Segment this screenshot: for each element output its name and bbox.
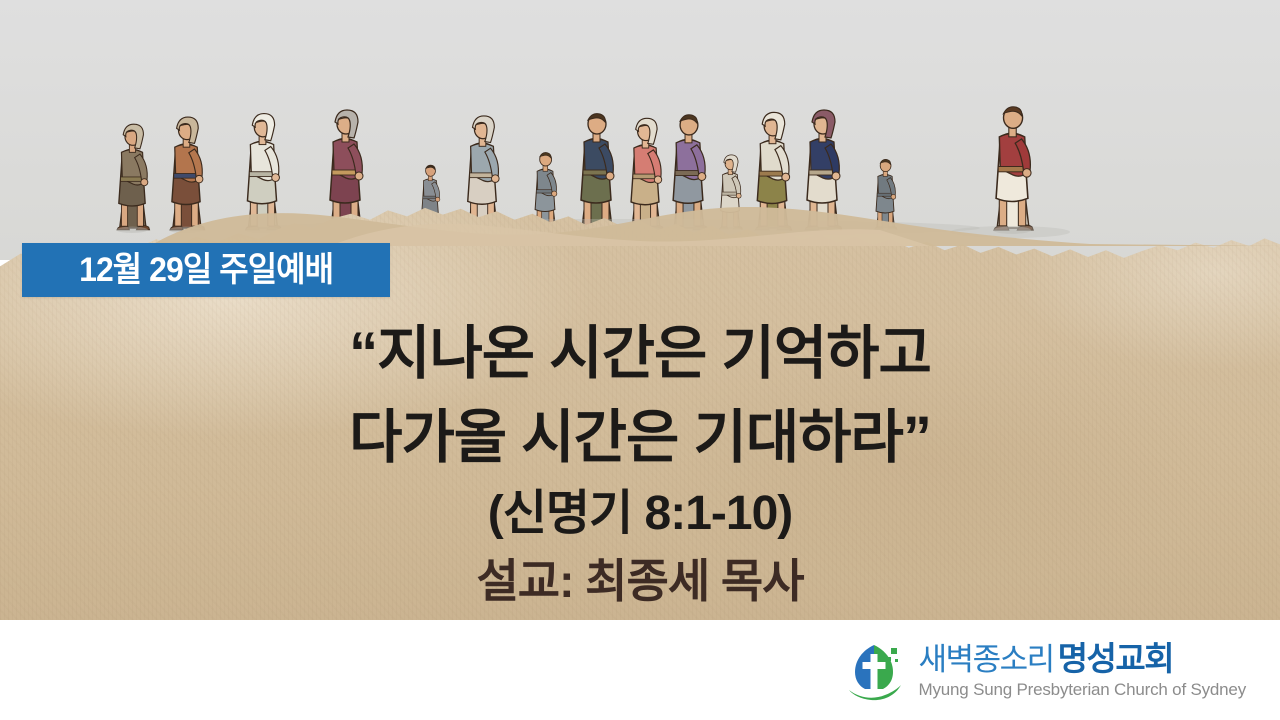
sermon-preacher: 설교: 최종세 목사 [0, 548, 1280, 614]
church-name-korean-light: 새벽종소리 [919, 644, 1054, 675]
church-name-english: Myung Sung Presbyterian Church of Sydney [919, 681, 1246, 698]
church-logo-text: 새벽종소리 명성교회 Myung Sung Presbyterian Churc… [919, 642, 1246, 698]
sermon-title-line-2: 다가올 시간은 기대하라” [0, 396, 1280, 480]
sermon-scripture-reference: (신명기 8:1-10) [0, 480, 1280, 548]
sermon-slide: 12월 29일 주일예배 “지나온 시간은 기억하고 다가올 시간은 기대하라”… [0, 0, 1280, 720]
footer-bar: 새벽종소리 명성교회 Myung Sung Presbyterian Churc… [0, 620, 1280, 720]
sermon-title-line-1: “지나온 시간은 기억하고 [0, 312, 1280, 396]
sermon-text-block: “지나온 시간은 기억하고 다가올 시간은 기대하라” (신명기 8:1-10)… [0, 312, 1280, 614]
date-banner: 12월 29일 주일예배 [22, 243, 390, 297]
date-banner-label: 12월 29일 주일예배 [79, 253, 333, 287]
church-name-korean: 새벽종소리 명성교회 [919, 642, 1246, 675]
church-logo: 새벽종소리 명성교회 Myung Sung Presbyterian Churc… [843, 632, 1246, 708]
church-leaf-cross-logo-icon [843, 638, 907, 702]
church-name-korean-bold: 명성교회 [1058, 642, 1173, 675]
